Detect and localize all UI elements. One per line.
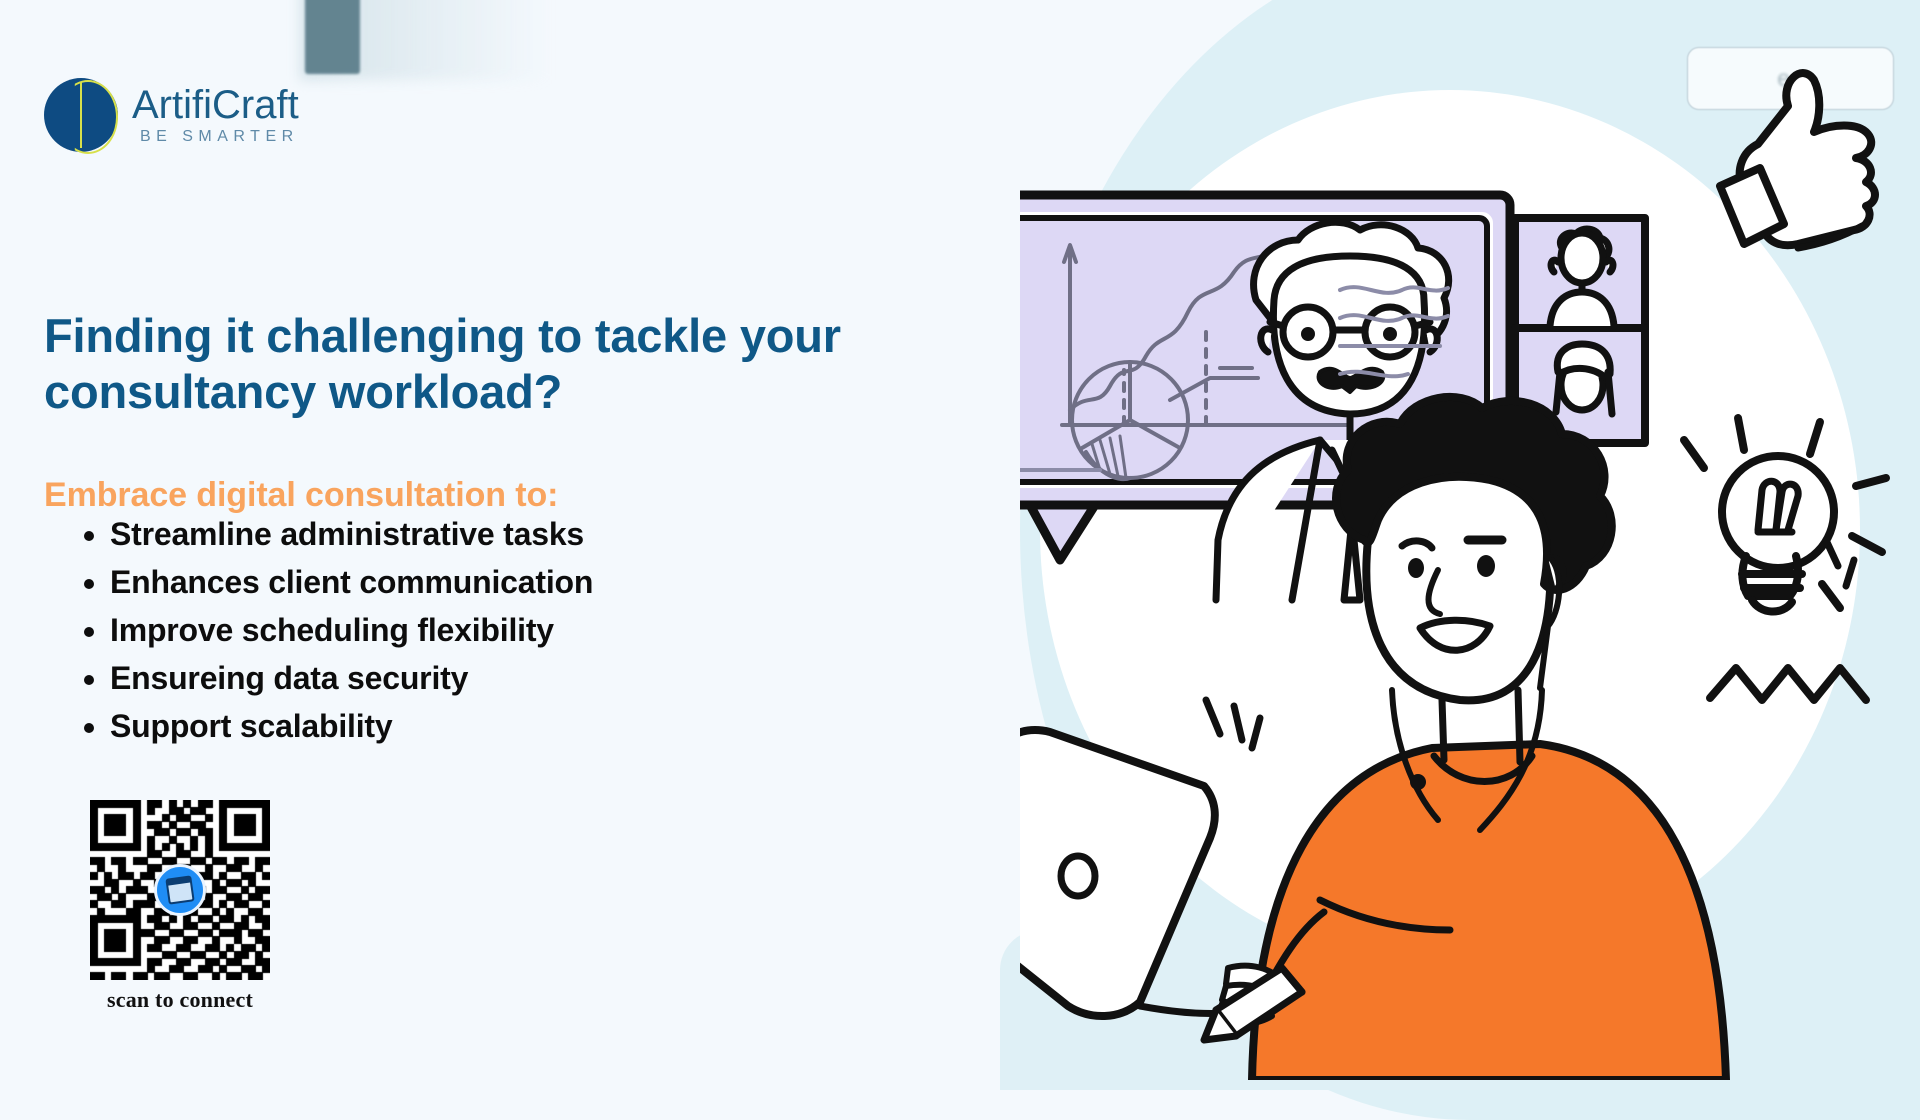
laptop [1020,730,1238,1016]
zigzag-squiggle [1710,668,1866,700]
benefits-list: Streamline administrative tasks Enhances… [78,510,593,750]
lightbulb-icon [1684,418,1886,612]
brand-name: ArtifiCraft [132,85,299,125]
page-headline: Finding it challenging to tackle your co… [44,308,874,419]
thumbs-up-icon [1720,73,1875,248]
brand-tagline: BE SMARTER [132,129,299,145]
qr-caption: scan to connect [90,987,270,1013]
logo-stem [80,82,82,148]
calendar-glyph [165,875,194,904]
motion-ticks [1206,700,1260,748]
brand-logo-text: ArtifiCraft BE SMARTER [132,85,299,145]
circle-leaf-logo-icon [44,78,118,152]
qr-code-block[interactable]: scan to connect [90,800,270,1013]
brand-logo[interactable]: ArtifiCraft BE SMARTER [44,78,299,152]
list-item: Improve scheduling flexibility [110,606,593,654]
list-item: Enhances client communication [110,558,593,606]
video-consultation-illustration [1020,0,1920,1080]
qr-code-image[interactable] [90,800,270,980]
top-left-grey-bar-artifact [305,0,360,74]
calendar-icon [154,864,206,916]
list-item: Support scalability [110,702,593,750]
list-item: Streamline administrative tasks [110,510,593,558]
list-item: Ensureing data security [110,654,593,702]
